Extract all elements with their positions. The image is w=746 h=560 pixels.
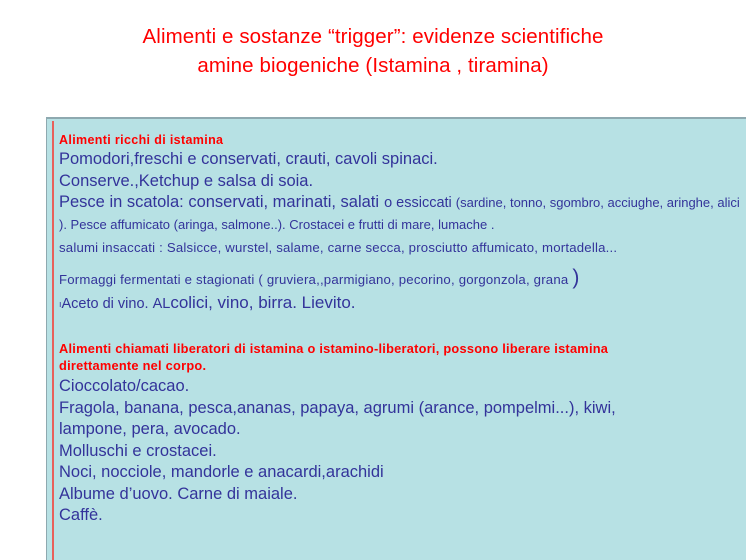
content-panel: Alimenti ricchi di istamina Pomodori,fre…	[46, 117, 746, 560]
page-title-line-2: amine biogeniche (Istamina , tiramina)	[0, 51, 746, 80]
section-1-cured-meats: salumi insaccati : Salsicce, wurstel, sa…	[59, 238, 746, 258]
section-2-line-7: Caffè.	[59, 505, 746, 527]
section-2-line-3: lampone, pera, avocado.	[59, 419, 746, 441]
section-1-fish-block: Pesce in scatola: conservati, marinati, …	[59, 192, 746, 235]
cheeses-closing-paren: )	[572, 266, 579, 289]
alcohol-text: colici, vino, birra. Lievito.	[170, 293, 355, 312]
page-title: Alimenti e sostanze “trigger”: evidenze …	[0, 22, 746, 80]
alcohol-prefix: AL	[153, 296, 171, 312]
fish-text-part-1: Pesce in scatola: conservati, marinati, …	[59, 193, 379, 211]
section-2-line-6: Albume d’uovo. Carne di maiale.	[59, 484, 746, 506]
section-1-line-1: Pomodori,freschi e conservati, crauti, c…	[59, 149, 746, 171]
fish-text-part-2: o essiccati	[384, 195, 452, 211]
section-2-list: Cioccolato/cacao. Fragola, banana, pesca…	[59, 376, 746, 527]
page-title-line-1: Alimenti e sostanze “trigger”: evidenze …	[0, 22, 746, 51]
section-2-line-1: Cioccolato/cacao.	[59, 376, 746, 398]
accent-bar	[52, 121, 54, 560]
section-2-heading-line-1: Alimenti chiamati liberatori di istamina…	[59, 340, 746, 357]
section-2-line-2: Fragola, banana, pesca,ananas, papaya, a…	[59, 398, 746, 420]
section-1-cheeses: Formaggi fermentati e stagionati ( gruvi…	[59, 268, 746, 290]
cheeses-text: Formaggi fermentati e stagionati ( gruvi…	[59, 272, 568, 287]
section-1-line-2: Conserve.,Ketchup e salsa di soia.	[59, 171, 746, 193]
section-1-heading: Alimenti ricchi di istamina	[59, 132, 746, 149]
content-body: Alimenti ricchi di istamina Pomodori,fre…	[59, 132, 746, 527]
section-divider-space	[59, 315, 746, 340]
section-2-line-4: Molluschi e crostacei.	[59, 441, 746, 463]
vinegar-text: Aceto di vino.	[62, 296, 149, 312]
section-2-heading-line-2: direttamente nel corpo.	[59, 357, 746, 374]
section-1-vinegar-alcohol: ıAceto di vino.ALcolici, vino, birra. Li…	[59, 292, 746, 315]
section-2-line-5: Noci, nocciole, mandorle e anacardi,arac…	[59, 462, 746, 484]
